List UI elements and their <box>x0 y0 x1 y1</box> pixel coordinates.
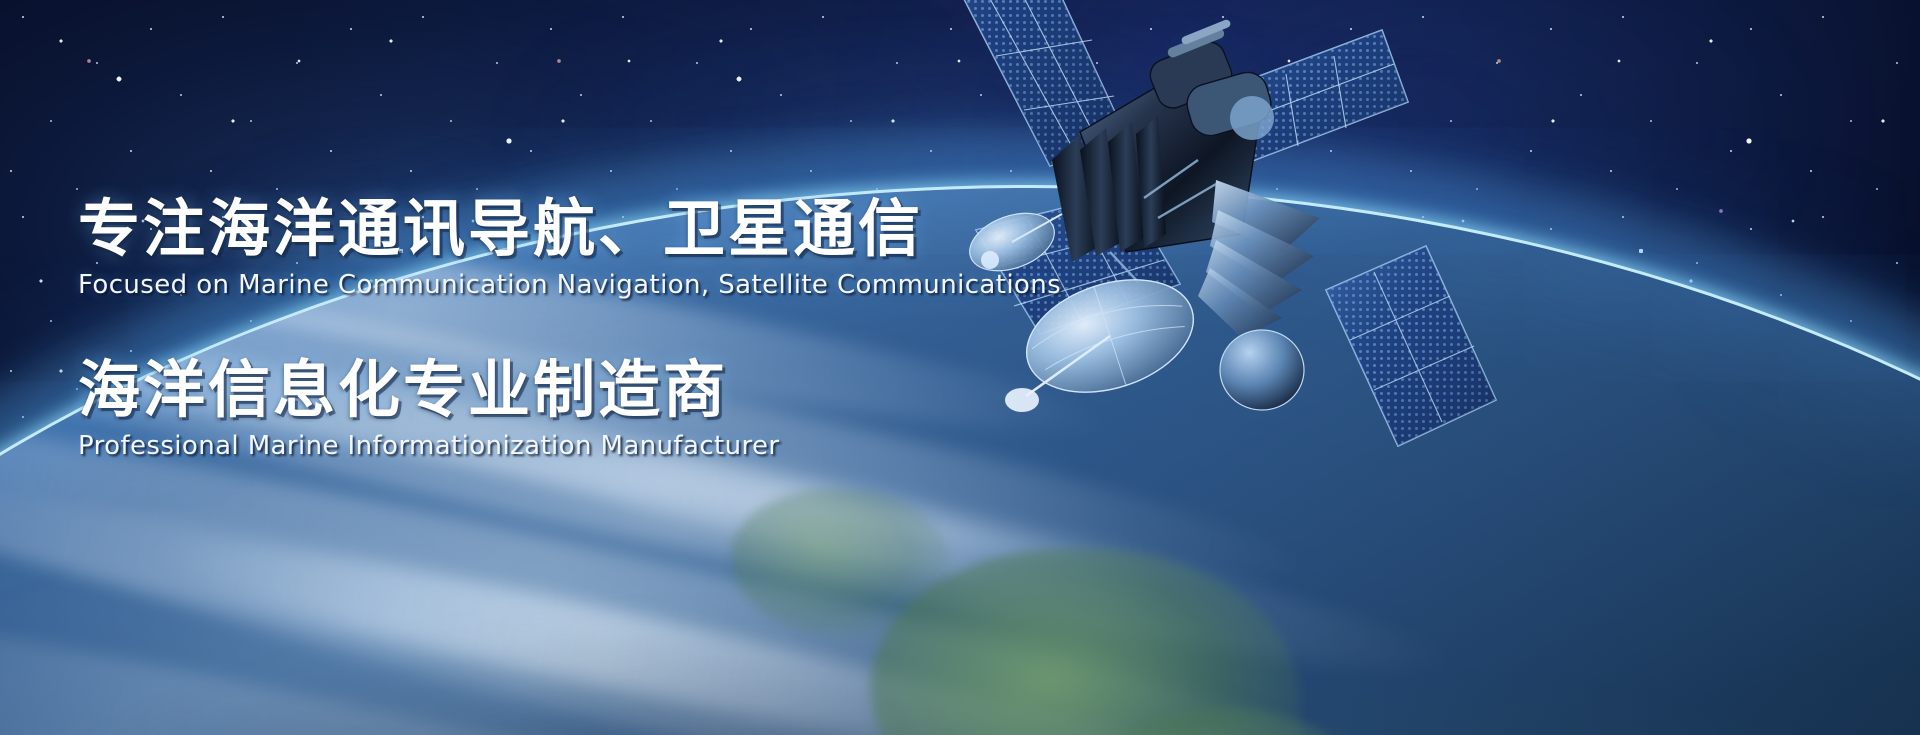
radiator-blades <box>1198 180 1320 338</box>
headline-2-chinese: 海洋信息化专业制造商 <box>78 357 1098 423</box>
hero-banner: 专注海洋通讯导航、卫星通信 Focused on Marine Communic… <box>0 0 1920 735</box>
solar-panel-lower-right <box>1326 246 1496 446</box>
headline-block-1: 专注海洋通讯导航、卫星通信 Focused on Marine Communic… <box>78 196 1098 301</box>
dish-antenna-dome <box>1220 330 1304 410</box>
headline-block-2: 海洋信息化专业制造商 Professional Marine Informati… <box>78 357 1098 462</box>
headline-copy: 专注海洋通讯导航、卫星通信 Focused on Marine Communic… <box>78 196 1098 462</box>
headline-1-chinese: 专注海洋通讯导航、卫星通信 <box>78 196 1098 262</box>
headline-2-english: Professional Marine Informationization M… <box>78 431 1098 462</box>
headline-1-english: Focused on Marine Communication Navigati… <box>78 270 1098 301</box>
